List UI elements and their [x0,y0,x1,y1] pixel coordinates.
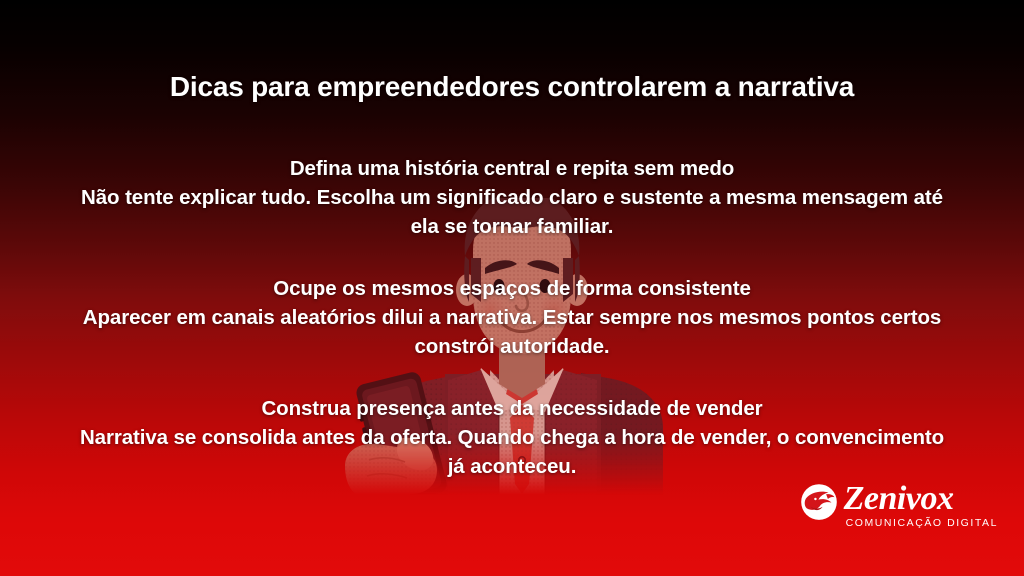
tip-title: Ocupe os mesmos espaços de forma consist… [0,274,1024,303]
logo-text-group: Zenivox COMUNICAÇÃO DIGITAL [844,482,998,529]
logo-wordmark: Zenivox [844,482,998,516]
tip-body: Não tente explicar tudo. Escolha um sign… [37,183,987,241]
zenivox-logo: Zenivox COMUNICAÇÃO DIGITAL [800,482,998,529]
logo-tagline: COMUNICAÇÃO DIGITAL [844,518,998,529]
tip-body: Narrativa se consolida antes da oferta. … [37,423,987,481]
tip-body: Aparecer em canais aleatórios dilui a na… [37,303,987,361]
tip-title: Defina uma história central e repita sem… [0,154,1024,183]
tip-block-2: Ocupe os mesmos espaços de forma consist… [0,274,1024,361]
tip-block-3: Construa presença antes da necessidade d… [0,394,1024,481]
page-title: Dicas para empreendedores controlarem a … [0,72,1024,103]
tip-block-1: Defina uma história central e repita sem… [0,154,1024,241]
tip-title: Construa presença antes da necessidade d… [0,394,1024,423]
zenivox-wolf-circle-icon [800,483,838,521]
slide-canvas: Dicas para empreendedores controlarem a … [0,0,1024,576]
